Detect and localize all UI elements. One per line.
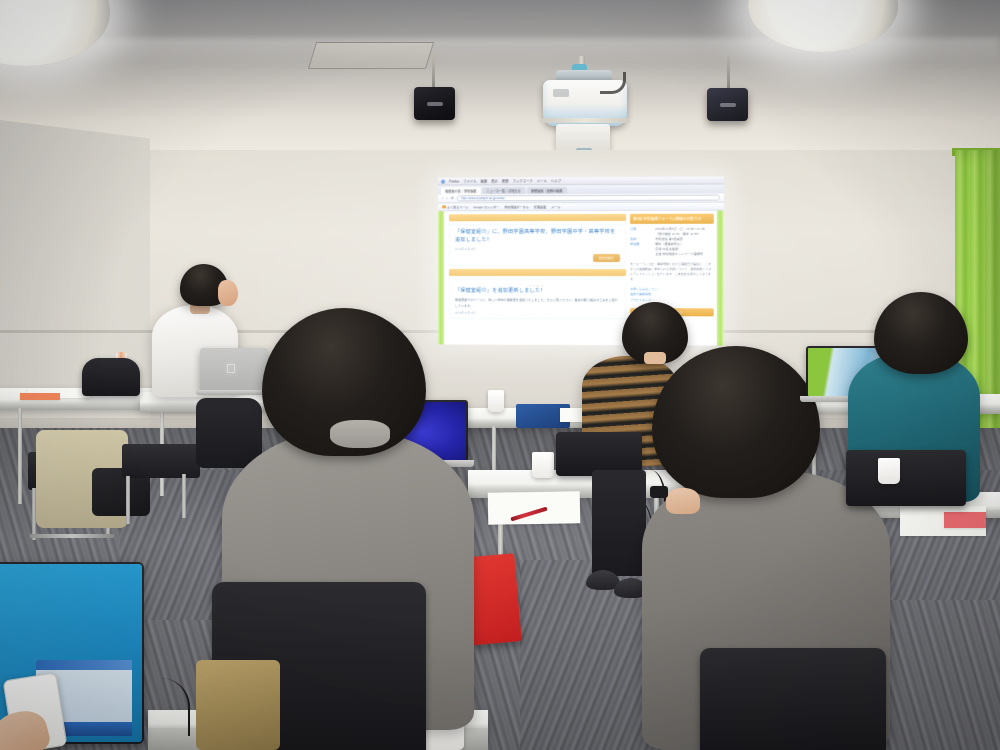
sidebar-links: お申し込みはこちら 過去の開催報告 アクセスマップ (630, 287, 714, 304)
news-post: - NEWS - 「保健室紹介」を追加更新しました！ 保健室紹介のページに、新し… (449, 278, 626, 319)
sidebar-link[interactable]: アクセスマップ (630, 298, 714, 304)
firefox-icon (441, 179, 445, 183)
menu-item-firefox[interactable]: Firefox (449, 179, 459, 183)
speaker-wire (432, 55, 435, 89)
post-action-row: 続きを読む (455, 254, 620, 262)
paper-cup (488, 390, 504, 412)
post-body: 保健室紹介のページに、新しい学校の保健室を追加いたしました。ぜひご覧ください。各… (455, 298, 620, 309)
bookmark-item[interactable]: Google カレンダー (473, 204, 499, 209)
post-date: 2014年11月10日 (455, 311, 620, 315)
chair-leg (182, 474, 186, 518)
handout-paper (488, 491, 581, 525)
browser-tab[interactable]: 管理画面｜投稿の編集 (527, 187, 567, 195)
presenter-macbook-screen[interactable]:  (200, 348, 268, 392)
desk-leg (18, 408, 22, 504)
bookmark-label: よく見るページ (447, 205, 468, 209)
menu-item-tools[interactable]: ツール (537, 178, 547, 183)
chair-foot-rail (30, 534, 114, 538)
favicon-icon (442, 205, 445, 208)
menu-item-bookmarks[interactable]: ブックマーク (513, 178, 533, 183)
air-vent-icon (308, 42, 434, 69)
bookmark-item[interactable]: 学校保健ポータル (504, 204, 529, 209)
menu-item-edit[interactable]: 編集 (481, 178, 488, 183)
speaker-wire (727, 56, 730, 90)
menubar-spacer (565, 180, 721, 181)
paper-cup (878, 458, 900, 484)
browser-tab[interactable]: ニュース一覧｜お知らせ (482, 187, 524, 195)
attendee-legs (592, 470, 646, 576)
sidebar-heading: 第3回 学校保健フォーラム開催のお知らせ (630, 214, 714, 225)
seminar-room-photo: Firefox ファイル 編集 表示 履歴 ブックマーク ツール ヘルプ 保健室… (0, 0, 1000, 750)
bookmark-item[interactable]: よく見るページ (442, 204, 468, 209)
page-main-column: 「保健室紹介」に、野田学園高等学校、野田学園中学・高等学校を追加しました！ 20… (444, 211, 630, 345)
attendee-neck (644, 352, 666, 364)
post-title[interactable]: 「保健室紹介」を追加更新しました！ (455, 287, 620, 295)
sidebar-detail-list: 日時 2014年12月6日（土）13:00〜17:00 （受付開始 12:30／… (630, 227, 714, 258)
projector-arm (540, 118, 630, 123)
menu-item-file[interactable]: ファイル (463, 178, 476, 183)
bookmark-item[interactable]: 管理画面 (534, 204, 546, 209)
post-accent-bar (449, 269, 626, 276)
post-accent-bar (449, 214, 626, 221)
speaker-left (414, 87, 455, 120)
chair-back[interactable] (82, 358, 140, 396)
post-date: 2014年11月18日 (455, 247, 620, 251)
presenter-legs (196, 398, 262, 468)
bookmark-item[interactable]: メール (551, 204, 560, 209)
paper-cup (532, 452, 554, 478)
chair-seat[interactable] (122, 444, 200, 478)
detail-key (630, 252, 652, 257)
post-title[interactable]: 「保健室紹介」に、野田学園高等学校、野田学園中学・高等学校を追加しました！ (455, 229, 620, 245)
url-input[interactable]: http://www.example.ac.jp/news/ (457, 194, 720, 201)
orange-notebook (20, 393, 60, 400)
speaker-right (707, 88, 748, 121)
read-more-button[interactable]: 続きを読む (593, 254, 620, 262)
apple-logo-icon:  (226, 362, 236, 375)
back-icon[interactable]: ‹ (442, 196, 443, 200)
browser-tab[interactable]: 保健室の窓｜学校保健 (441, 187, 480, 195)
attendee-bag (196, 660, 280, 750)
usb-connector-icon (650, 486, 668, 498)
sidebar-detail-row: 主催 学校保健ネットワーク事務局 (630, 252, 714, 257)
sidebar-paragraph: 本フォーラムでは、学校現場における保健室の役割と、これからの養護教諭に求められる… (630, 262, 714, 283)
detail-value: 主催 学校保健ネットワーク事務局 (655, 252, 703, 257)
red-marker-sheet (944, 512, 986, 528)
menu-item-history[interactable]: 履歴 (502, 178, 509, 183)
laptop-window-titlebar (36, 660, 132, 670)
forward-icon[interactable]: › (446, 196, 447, 200)
chair-back[interactable] (700, 648, 886, 750)
menu-item-help[interactable]: ヘルプ (551, 178, 561, 183)
news-post: 「保健室紹介」に、野田学園高等学校、野田学園中学・高等学校を追加しました！ 20… (449, 224, 626, 266)
presenter-face (218, 280, 238, 306)
attendee-hand (666, 488, 700, 514)
page-right-rail (717, 211, 724, 346)
attendee-collar (330, 420, 390, 448)
chair-leg (126, 476, 130, 524)
presenter-macbook-base (196, 390, 272, 395)
chair-back[interactable] (846, 450, 966, 506)
reload-icon[interactable]: ⟳ (451, 196, 454, 200)
menu-item-view[interactable]: 表示 (491, 178, 498, 183)
